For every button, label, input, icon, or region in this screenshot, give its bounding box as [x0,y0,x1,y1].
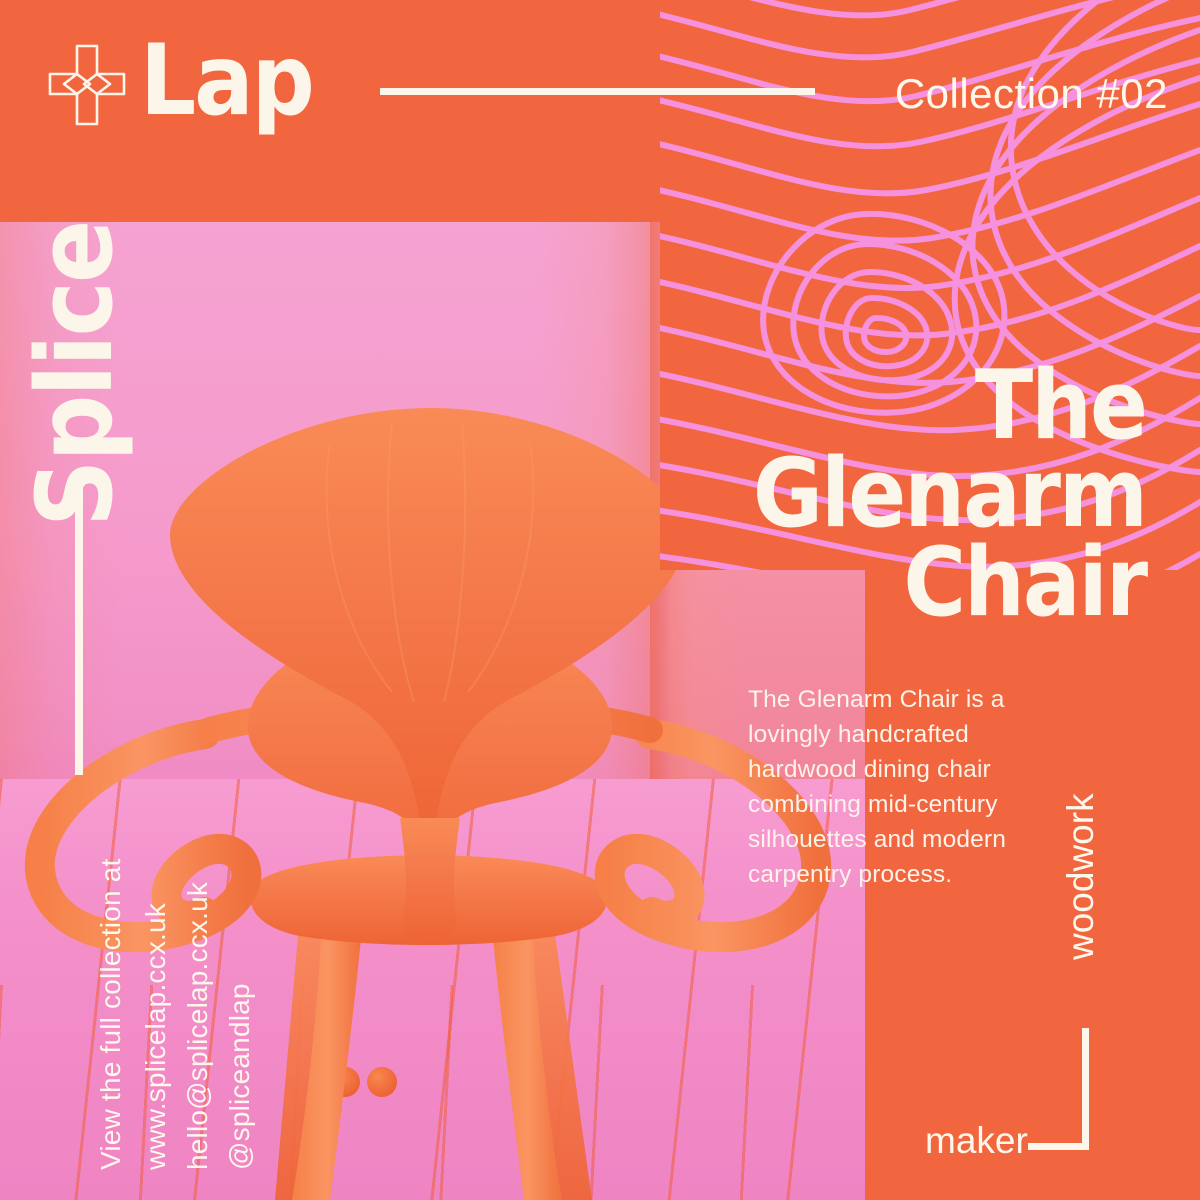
collection-label: Collection #02 [895,70,1168,118]
product-description: The Glenarm Chair is a lovingly handcraf… [748,682,1068,892]
product-title: The Glenarm Chair [506,362,1146,627]
contact-cta: View the full collection at [95,859,127,1171]
woodwork-label: woodwork [1060,793,1102,960]
corner-bracket-vertical [1082,1028,1089,1148]
contact-email[interactable]: hello@splicelap.ccx.uk [182,882,214,1170]
header-divider-rule [380,88,815,95]
brand-vertical-wordmark: Splice [23,67,127,527]
corner-bracket-horizontal [1028,1143,1089,1150]
maker-label: maker [925,1120,1028,1162]
contact-website[interactable]: www.splicelap.ccx.uk [140,903,172,1170]
poster-canvas: Lap Collection #02 Splice The Glenarm Ch… [0,0,1200,1200]
brand-vertical-rule [75,475,83,775]
brand-wordmark: Lap [140,32,313,130]
title-line-2: Glenarm [506,450,1146,538]
title-line-3: Chair [506,539,1146,627]
contact-social[interactable]: @spliceandlap [224,983,256,1170]
title-line-1: The [506,362,1146,450]
